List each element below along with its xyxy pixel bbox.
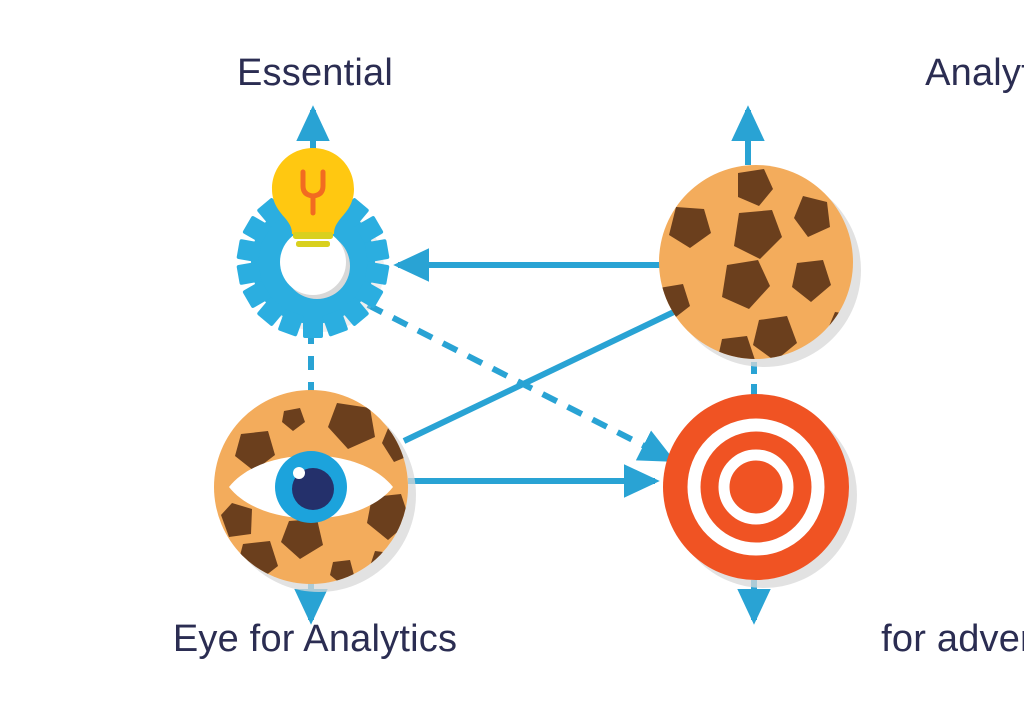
- line-eye-to-analytics: [404, 310, 678, 441]
- diagram-graphics: [0, 0, 1024, 704]
- label-for-advertising: for advertising: [490, 618, 1024, 661]
- label-analytics: Analytics: [490, 52, 1024, 95]
- diagram-canvas: Essential Analytics Eye for Analytics fo…: [0, 0, 1024, 704]
- target-icon[interactable]: [663, 394, 857, 588]
- cookie-eye-icon[interactable]: [214, 390, 416, 592]
- gear-lightbulb-icon[interactable]: [236, 148, 389, 338]
- cookie-icon[interactable]: [652, 165, 861, 376]
